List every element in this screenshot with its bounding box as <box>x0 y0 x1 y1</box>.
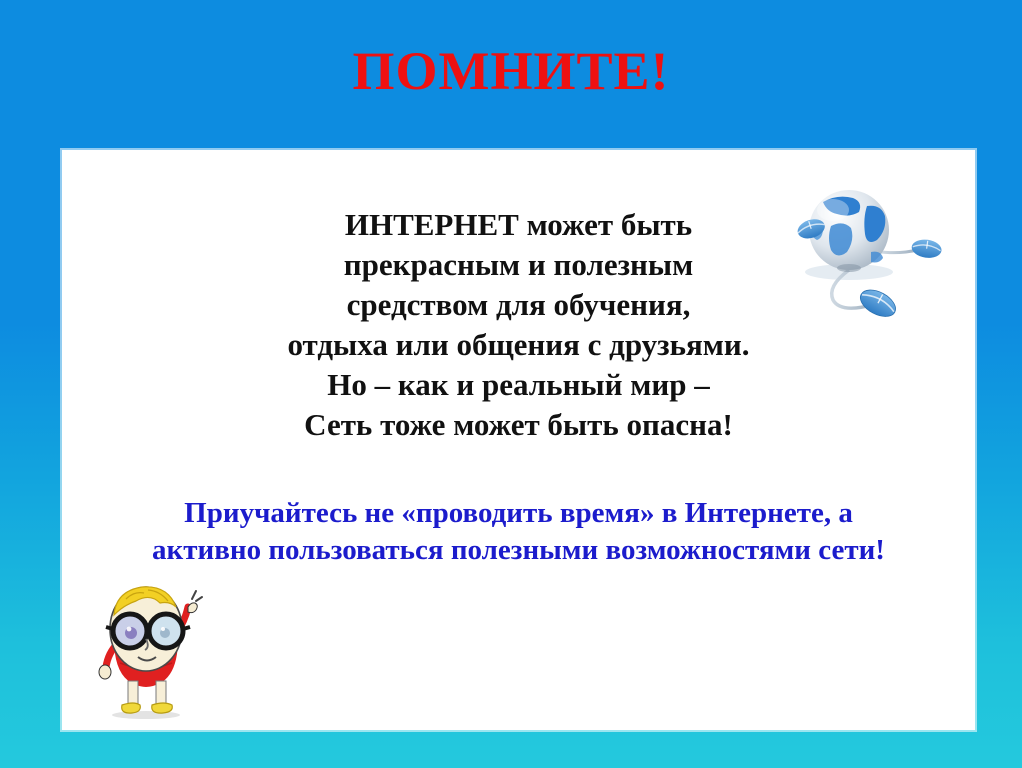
cartoon-boy-with-glasses-icon <box>84 577 214 722</box>
content-card: ИНТЕРНЕТ может быть прекрасным и полезны… <box>62 150 975 730</box>
callout-line: Приучайтесь не «проводить время» в Интер… <box>62 495 975 532</box>
body-text-block: ИНТЕРНЕТ может быть прекрасным и полезны… <box>62 205 975 445</box>
body-line: средством для обучения, <box>62 285 975 325</box>
body-line: Сеть тоже может быть опасна! <box>62 405 975 445</box>
body-line: Но – как и реальный мир – <box>62 365 975 405</box>
body-line: прекрасным и полезным <box>62 245 975 285</box>
body-line: ИНТЕРНЕТ может быть <box>62 205 975 245</box>
body-line: отдыха или общения с друзьями. <box>62 325 975 365</box>
callout-line: активно пользоваться полезными возможнос… <box>62 532 975 569</box>
slide-root: ПОМНИТЕ! <box>0 0 1022 768</box>
callout-text-block: Приучайтесь не «проводить время» в Интер… <box>62 495 975 569</box>
page-title: ПОМНИТЕ! <box>0 40 1022 102</box>
